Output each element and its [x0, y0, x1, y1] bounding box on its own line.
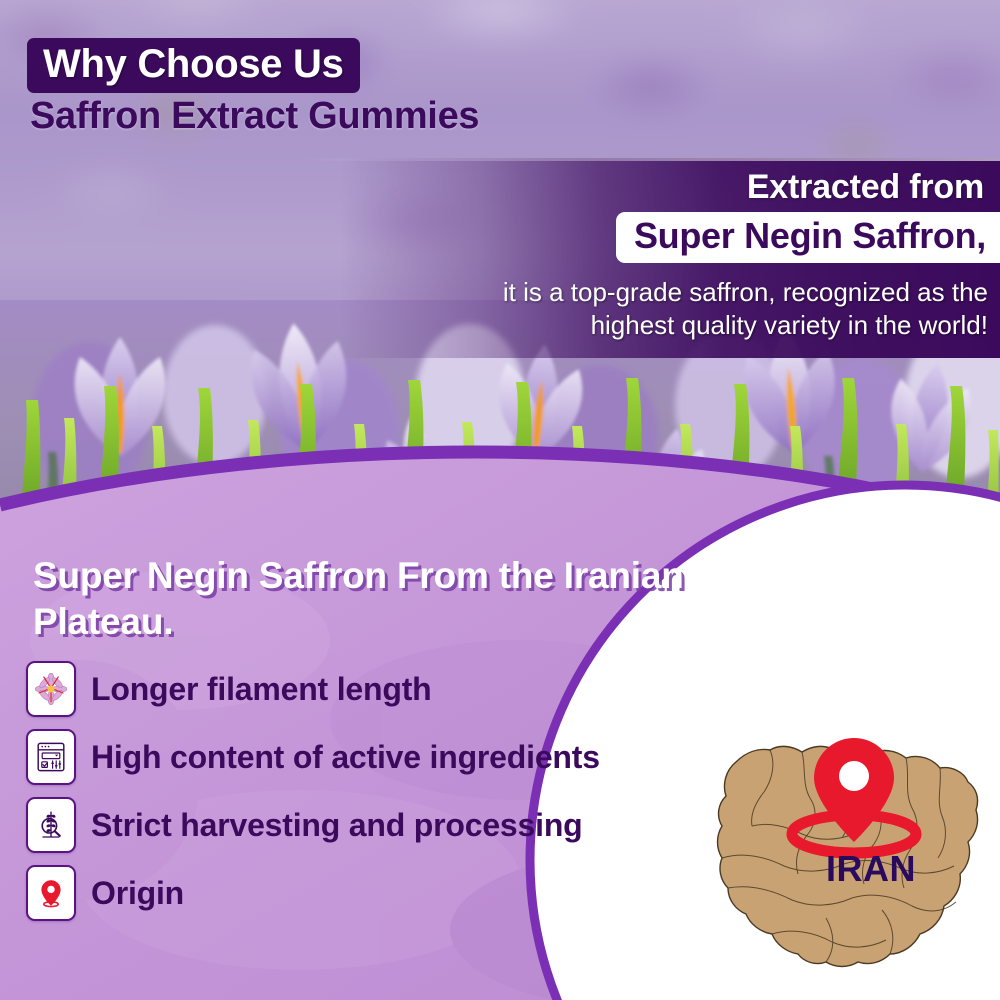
feature-list: Longer filament length	[26, 655, 706, 927]
list-item: High content of active ingredients	[26, 723, 706, 791]
feature-label: Strict harvesting and processing	[91, 807, 583, 844]
magnifier-wheat-icon	[26, 797, 76, 853]
bottom-panel-title: Super Negin Saffron From the Iranian Pla…	[33, 553, 713, 644]
dashboard-document-icon	[26, 729, 76, 785]
location-pin-icon	[26, 865, 76, 921]
feature-label: Longer filament length	[91, 671, 432, 708]
iran-map: IRAN	[706, 700, 996, 990]
list-item: Origin	[26, 859, 706, 927]
list-item: Longer filament length	[26, 655, 706, 723]
iran-country-label: IRAN	[726, 848, 1000, 890]
infographic-poster: Why Choose Us Saffron Extract Gummies Ex…	[0, 0, 1000, 1000]
feature-label: Origin	[91, 875, 184, 912]
list-item: Strict harvesting and processing	[26, 791, 706, 859]
saffron-flower-icon	[26, 661, 76, 717]
feature-label: High content of active ingredients	[91, 739, 600, 776]
